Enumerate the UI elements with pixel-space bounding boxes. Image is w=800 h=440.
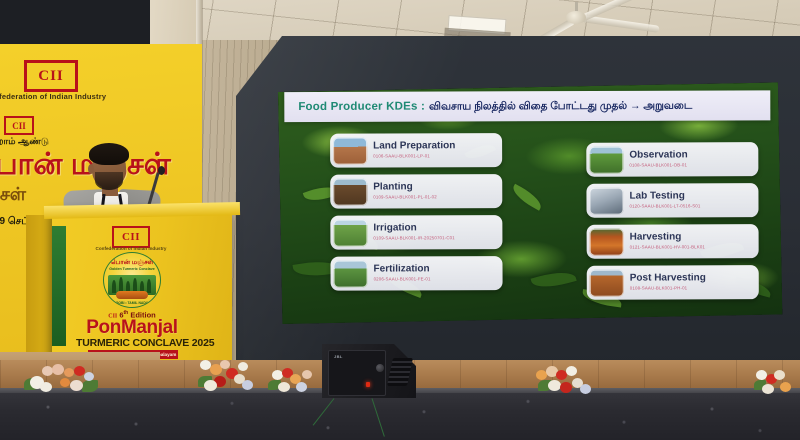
flower-bouquet — [196, 358, 262, 394]
kde-card-code: 0106-SAAU-BLK001-LP-01 — [373, 154, 455, 159]
emblem-english-text: Golden Turmeric Conclave — [104, 267, 160, 271]
presentation-screen: Food Producer KDEs : விவசாய நிலத்தில் வி… — [278, 82, 782, 324]
ponmanjal-emblem-icon: பொன் மஞ்சள் Golden Turmeric Conclave GOB… — [103, 252, 161, 308]
microphone-icon — [158, 166, 165, 175]
monitor-brand-label: JBL — [334, 354, 343, 359]
ceiling-fan-icon — [566, 11, 586, 24]
slide-title-english: Food Producer KDEs : — [298, 101, 425, 113]
leaf-shape — [509, 184, 545, 211]
kde-card-code: 0206-SAAU-BLK001-FE-01 — [374, 277, 431, 282]
kde-card: Harvesting 0121-SAAU-BLK001-HV-001-BLK01 — [587, 224, 759, 259]
banner-tamil-sub: மஞ்சள் — [0, 184, 26, 207]
kde-card: Planting 0109-SAAU-BLK001-PL-01-02 — [330, 174, 502, 209]
leaf-shape — [531, 267, 577, 292]
scientist-in-laboratory-icon — [589, 187, 623, 214]
kde-card-label: Irrigation — [373, 224, 454, 235]
slide-title-tamil: விவசாய நிலத்தில் விதை போட்டது முதல் → அற… — [429, 99, 692, 113]
cii-logo-subtitle: Confederation of Indian Industry — [0, 92, 114, 101]
speaker-hair — [89, 143, 129, 165]
speaker-ear — [88, 164, 94, 174]
podium-event-name: PonManjal — [76, 317, 188, 339]
kde-card-label: Lab Testing — [629, 192, 700, 203]
turmeric-drying-yard-icon — [590, 269, 624, 296]
kde-card: Observation 0108-SAAU-BLK001-OB-01 — [586, 142, 758, 177]
banner-tamil-small: ஆறாம் ஆண்டு — [0, 136, 49, 148]
kde-card-code: 0121-SAAU-BLK001-HV-001-BLK01 — [630, 245, 705, 250]
irrigated-green-field-icon — [333, 219, 367, 246]
podium-green-stripe — [52, 226, 66, 346]
flower-bouquet — [752, 368, 800, 396]
kde-card-code: 0108-SAAU-BLK001-PH-01 — [630, 286, 706, 291]
granite-speckle — [0, 393, 800, 440]
planting-rows-icon — [333, 178, 367, 205]
flower-bouquet — [534, 364, 596, 396]
kde-card: Irrigation 0109-SAAU-BLK001-IR-20250701-… — [330, 215, 502, 250]
emblem-turmeric-root — [116, 291, 148, 299]
podium-cii-subtitle: Confederation of Indian Industry — [92, 246, 170, 251]
kde-card-label: Fertilization — [374, 265, 431, 276]
emblem-leaf — [112, 280, 116, 293]
cii-logo: CII — [24, 60, 78, 92]
kde-card-label: Land Preparation — [373, 142, 455, 153]
banner-tamil-title: பொன் மஞ்சள் — [0, 148, 171, 186]
kde-card: Post Harvesting 0108-SAAU-BLK001-PH-01 — [587, 265, 759, 300]
photo-scene: Food Producer KDEs : விவசாய நிலத்தில் வி… — [0, 0, 800, 440]
kde-card: Lab Testing 0120-SAAU-BLK001-LT-0516-S01 — [586, 183, 758, 218]
cii-logo-small: CII — [4, 116, 34, 135]
podium-edition-suffix: th — [124, 310, 129, 316]
podium-event-subtitle: TURMERIC CONCLAVE 2025 — [76, 337, 188, 349]
podium-cii-logo: CII — [112, 226, 150, 248]
monitor-power-led-icon — [366, 382, 370, 387]
worker-spraying-crop-icon — [333, 260, 367, 287]
harvested-turmeric-rhizomes-icon — [590, 228, 624, 255]
flower-bouquet — [22, 362, 108, 396]
tractor-ploughing-field-icon — [333, 137, 367, 164]
emblem-tamil-text: பொன் மஞ்சள் — [104, 259, 160, 267]
slide-title-bar: Food Producer KDEs : விவசாய நிலத்தில் வி… — [284, 90, 770, 122]
slide-left-column: Land Preparation 0106-SAAU-BLK001-LP-01 … — [330, 133, 503, 291]
kde-card-code: 0108-SAAU-BLK001-OB-01 — [629, 163, 687, 168]
kde-card-code: 0109-SAAU-BLK001-PL-01-02 — [373, 195, 437, 200]
kde-card: Land Preparation 0106-SAAU-BLK001-LP-01 — [330, 133, 502, 168]
slide-right-column: Observation 0108-SAAU-BLK001-OB-01 Lab T… — [586, 142, 759, 300]
speaker-beard — [95, 172, 123, 190]
kde-card-code: 0120-SAAU-BLK001-LT-0516-S01 — [629, 204, 700, 209]
emblem-leaf — [147, 279, 151, 293]
kde-card-label: Post Harvesting — [630, 274, 706, 285]
emblem-bottom-text: GOBI • TAMIL NADU — [104, 301, 160, 305]
kde-card-label: Planting — [373, 183, 437, 194]
kde-card: Fertilization 0206-SAAU-BLK001-FE-01 — [330, 256, 502, 291]
farmer-inspecting-crop-icon — [589, 146, 623, 173]
kde-card-label: Observation — [629, 151, 687, 162]
monitor-volume-knob[interactable] — [376, 364, 384, 372]
stage-front-granite — [0, 393, 800, 440]
flower-bouquet — [268, 366, 322, 396]
kde-card-label: Harvesting — [630, 233, 705, 244]
kde-card-code: 0109-SAAU-BLK001-IR-20250701-C01 — [373, 236, 454, 241]
